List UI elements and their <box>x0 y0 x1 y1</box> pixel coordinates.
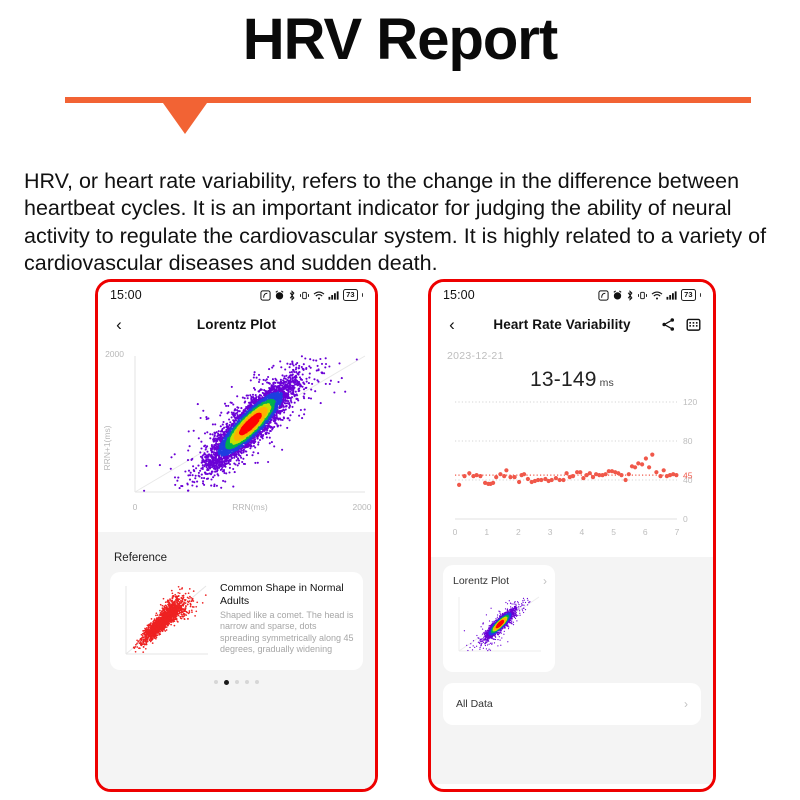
hrv-x-tick-label: 4 <box>579 527 584 537</box>
hrv-x-tick-label: 2 <box>516 527 521 537</box>
hrv-data-point <box>522 472 526 476</box>
hrv-data-point <box>565 471 569 475</box>
hrv-data-point <box>604 472 608 476</box>
nav-title-hrv: Heart Rate Variability <box>463 317 661 332</box>
nfc-icon <box>598 290 609 301</box>
hrv-scatter-svg: 0404580120 01234567 <box>431 392 713 557</box>
hrv-y-tick-label: 120 <box>683 397 697 407</box>
hrv-data-point <box>475 473 479 477</box>
hrv-gridlines <box>455 402 677 480</box>
hrv-x-tick-label: 0 <box>453 527 458 537</box>
hrv-x-tick-label: 5 <box>611 527 616 537</box>
hrv-report-page: HRV Report HRV, or heart rate variabilit… <box>0 0 800 800</box>
chevron-right-icon: › <box>543 575 547 587</box>
hrv-data-point <box>498 472 502 476</box>
comet-scatter-thumbnail <box>110 572 214 670</box>
hrv-range-number: 13-149 <box>530 368 597 391</box>
lorentz-scatter-points <box>143 355 358 492</box>
hrv-data-point <box>636 461 640 465</box>
triangle-down-icon <box>163 103 207 134</box>
pager-dot[interactable] <box>255 680 259 684</box>
lorentz-scatter-thumbnail <box>453 593 545 657</box>
card-lorentz-plot[interactable]: Lorentz Plot › <box>443 565 555 672</box>
hrv-data-point <box>539 478 543 482</box>
reference-card[interactable]: Common Shape in Normal Adults Shaped lik… <box>110 572 363 670</box>
card-lorentz-title: Lorentz Plot <box>453 575 509 587</box>
pager-dot-active[interactable] <box>224 680 229 685</box>
pager-dot[interactable] <box>214 680 218 684</box>
battery-level: 73 <box>346 290 354 300</box>
hrv-data-point <box>457 483 461 487</box>
battery-level: 73 <box>684 290 692 300</box>
hrv-data-point <box>644 456 648 460</box>
hrv-data-point <box>494 475 498 479</box>
hrv-data-point <box>467 471 471 475</box>
alarm-off-icon <box>274 290 285 301</box>
hrv-data-point <box>658 474 662 478</box>
hrv-data-point <box>571 474 575 478</box>
battery-tip <box>700 293 702 297</box>
hrv-data-point <box>513 475 517 479</box>
bluetooth-icon <box>288 290 296 301</box>
hrv-data-point <box>561 478 565 482</box>
hrv-x-axis-labels: 01234567 <box>453 527 680 537</box>
hrv-data-point <box>627 472 631 476</box>
hrv-data-point <box>508 475 512 479</box>
alarm-off-icon <box>612 290 623 301</box>
hrv-scatter-chart: 0404580120 01234567 <box>431 392 713 557</box>
hrv-y-tick-label: 45 <box>683 470 693 480</box>
status-time: 15:00 <box>110 288 142 302</box>
nav-bar-right: ‹ Heart Rate Variability <box>431 308 713 340</box>
hrv-data-point <box>674 473 678 477</box>
card-all-data[interactable]: All Data › <box>443 683 701 725</box>
phone-screenshot-hrv: 15:00 73 ‹ Heart Rate Variability 2023-1… <box>428 279 716 792</box>
y-axis-title: RRN+1(ms) <box>102 425 112 470</box>
hrv-scatter-points <box>457 453 679 488</box>
hrv-range-unit: ms <box>600 377 614 389</box>
hrv-data-point <box>502 474 506 478</box>
hrv-y-tick-label: 80 <box>683 436 693 446</box>
hrv-data-point <box>526 477 530 481</box>
hrv-data-point <box>478 474 482 478</box>
status-icon-group: 73 <box>260 289 363 301</box>
reference-card-body: Shaped like a comet. The head is narrow … <box>220 610 355 655</box>
nav-bar-left: ‹ Lorentz Plot <box>98 308 375 340</box>
hrv-x-tick-label: 3 <box>548 527 553 537</box>
phone-screenshot-lorentz: 15:00 73 ‹ Lorentz Plot 2000 RRN+1(ms) <box>95 279 378 792</box>
hrv-data-point <box>504 468 508 472</box>
card-all-data-title: All Data <box>456 698 493 710</box>
hrv-data-point <box>554 476 558 480</box>
x-axis-min-label: 0 <box>133 502 138 512</box>
vibrate-icon <box>637 290 648 301</box>
hrv-data-point <box>550 478 554 482</box>
hrv-range-value: 13-149ms <box>431 362 713 392</box>
reference-card-heading: Common Shape in Normal Adults <box>220 582 355 607</box>
right-cards-section: Lorentz Plot › All Data › <box>431 557 713 784</box>
y-axis-max-label: 2000 <box>105 349 124 359</box>
hrv-data-point <box>581 476 585 480</box>
page-title: HRV Report <box>0 8 800 72</box>
hrv-y-axis-labels: 0404580120 <box>683 397 697 524</box>
carousel-pager[interactable] <box>98 680 375 685</box>
battery-icon: 73 <box>681 289 695 301</box>
hrv-data-point <box>517 480 521 484</box>
hrv-data-point <box>624 478 628 482</box>
reference-section-title: Reference <box>98 532 375 572</box>
status-bar-right: 15:00 73 <box>431 282 713 308</box>
hrv-x-tick-label: 7 <box>675 527 680 537</box>
pager-dot[interactable] <box>245 680 249 684</box>
hrv-data-point <box>633 465 637 469</box>
hrv-data-point <box>558 478 562 482</box>
hrv-data-point <box>588 471 592 475</box>
nav-title-lorentz: Lorentz Plot <box>130 317 343 332</box>
hrv-x-tick-label: 6 <box>643 527 648 537</box>
status-bar-left: 15:00 73 <box>98 282 375 308</box>
share-icon[interactable] <box>661 317 676 332</box>
summary-date: 2023-12-21 <box>431 340 713 362</box>
hrv-data-point <box>647 465 651 469</box>
chevron-right-icon: › <box>684 698 688 710</box>
pager-dot[interactable] <box>235 680 239 684</box>
hrv-data-point <box>650 453 654 457</box>
calendar-icon[interactable] <box>686 317 701 332</box>
bluetooth-icon <box>626 290 634 301</box>
battery-icon: 73 <box>343 289 357 301</box>
cellular-signal-icon <box>666 290 678 301</box>
intro-paragraph: HRV, or heart rate variability, refers t… <box>24 168 776 278</box>
cellular-signal-icon <box>328 290 340 301</box>
battery-tip <box>362 293 364 297</box>
reference-section: Reference Common Shape in Normal Adults … <box>98 532 375 789</box>
x-axis-max-label: 2000 <box>353 502 372 512</box>
x-axis-title: RRN(ms) <box>232 502 268 512</box>
wifi-icon <box>651 290 663 301</box>
hrv-data-point <box>491 481 495 485</box>
hrv-data-point <box>662 468 666 472</box>
hrv-data-point <box>654 470 658 474</box>
hrv-data-point <box>462 474 466 478</box>
chevron-left-icon[interactable]: ‹ <box>441 316 463 333</box>
nav-actions <box>661 317 703 332</box>
hrv-data-point <box>578 470 582 474</box>
hrv-data-point <box>591 475 595 479</box>
status-icon-group: 73 <box>598 289 701 301</box>
hrv-data-point <box>640 462 644 466</box>
lorentz-plot-chart: 2000 RRN+1(ms) 0 RRN(ms) 2000 <box>98 340 375 532</box>
reference-card-text: Common Shape in Normal Adults Shaped lik… <box>214 572 363 670</box>
hrv-y-tick-label: 0 <box>683 514 688 524</box>
hrv-x-tick-label: 1 <box>484 527 489 537</box>
hrv-data-point <box>619 473 623 477</box>
lorentz-plot-svg: 2000 RRN+1(ms) 0 RRN(ms) 2000 <box>98 340 375 532</box>
vibrate-icon <box>299 290 310 301</box>
nfc-icon <box>260 290 271 301</box>
status-time: 15:00 <box>443 288 475 302</box>
wifi-icon <box>313 290 325 301</box>
chevron-left-icon[interactable]: ‹ <box>108 316 130 333</box>
